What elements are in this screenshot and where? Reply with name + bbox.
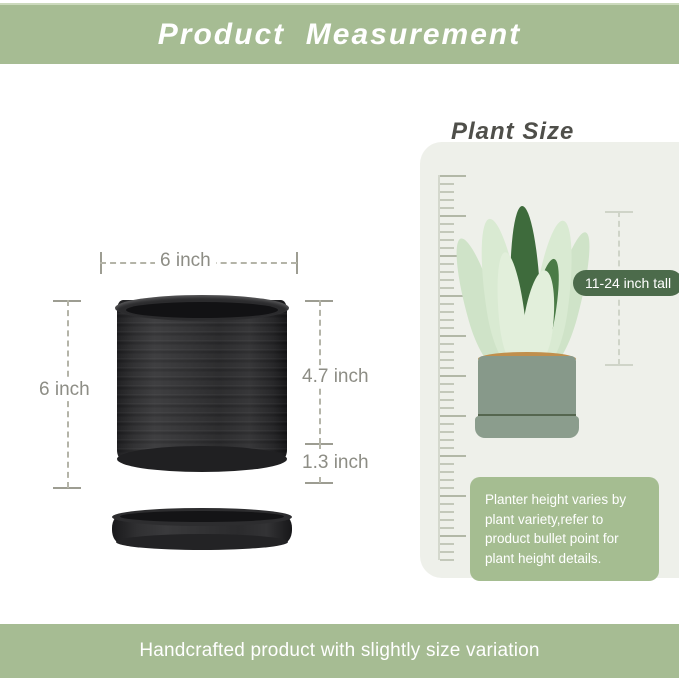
ruler-tick-minor [440, 327, 454, 329]
ruler-tick-minor [440, 399, 454, 401]
ruler-tick-major [440, 535, 466, 537]
ruler-tick-minor [440, 303, 454, 305]
ruler-tick-minor [440, 543, 454, 545]
disclaimer-box: Planter height varies by plant variety,r… [470, 477, 659, 581]
planter-ribbed-texture [117, 304, 287, 460]
header-banner: Product Measurement [0, 3, 679, 64]
ruler-tick-minor [440, 271, 454, 273]
ruler-tick-minor [440, 471, 454, 473]
ruler-tick-minor [440, 431, 454, 433]
plant-pot-ring [478, 414, 576, 416]
ruler-tick-minor [440, 487, 454, 489]
ruler-tick-minor [440, 367, 454, 369]
ruler-tick-minor [440, 503, 454, 505]
ruler-tick-minor [440, 423, 454, 425]
ruler-tick-major [440, 455, 466, 457]
ruler-tick-minor [440, 311, 454, 313]
planter-image [112, 300, 292, 556]
ruler-tick-minor [440, 319, 454, 321]
ruler-tick-minor [440, 223, 454, 225]
ruler-tick-minor [440, 551, 454, 553]
ruler-tick-minor [440, 287, 454, 289]
planter-saucer [112, 508, 292, 550]
plant-height-badge: 11-24 inch tall [573, 270, 679, 296]
ruler-tick-minor [440, 511, 454, 513]
ruler-tick-minor [440, 183, 454, 185]
ruler-tick-minor [440, 239, 454, 241]
ruler-tick-minor [440, 559, 454, 561]
footer-banner: Handcrafted product with slightly size v… [0, 624, 679, 678]
saucer-base [116, 534, 288, 550]
ruler-tick-minor [440, 231, 454, 233]
ruler-tick-minor [440, 391, 454, 393]
ruler-tick-minor [440, 383, 454, 385]
planter-interior [126, 302, 278, 318]
product-measurement-diagram: 6 inch 6 inch 4.7 inch 1.3 inch [0, 64, 410, 624]
ruler-tick-minor [440, 351, 454, 353]
width-dim-label: 6 inch [155, 250, 216, 272]
ruler-tick-minor [440, 439, 454, 441]
page-title: Product Measurement [158, 18, 521, 52]
ruler-tick-minor [440, 247, 454, 249]
ruler-tick-minor [440, 279, 454, 281]
planter-base [117, 446, 287, 472]
ruler-tick-minor [440, 263, 454, 265]
saucer-lip [120, 511, 284, 522]
pot-height-label: 4.7 inch [297, 366, 374, 388]
ruler-tick-major [440, 175, 466, 177]
footer-note: Handcrafted product with slightly size v… [139, 640, 539, 662]
ruler-tick-minor [440, 199, 454, 201]
ruler-tick-minor [440, 463, 454, 465]
snake-plant-icon [462, 196, 594, 446]
saucer-height-label: 1.3 inch [297, 452, 374, 474]
plant-size-title: Plant Size [451, 118, 574, 146]
ruler-tick-minor [440, 343, 454, 345]
ruler-tick-minor [440, 191, 454, 193]
total-height-label: 6 inch [34, 379, 95, 401]
ruler-tick-minor [440, 359, 454, 361]
ruler-tick-minor [440, 407, 454, 409]
plant-pot-saucer [475, 416, 579, 438]
ruler-tick-minor [440, 527, 454, 529]
ruler-tick-minor [440, 207, 454, 209]
ruler-tick-minor [440, 519, 454, 521]
ruler-tick-major [440, 495, 466, 497]
ruler-tick-minor [440, 479, 454, 481]
ruler-tick-minor [440, 447, 454, 449]
